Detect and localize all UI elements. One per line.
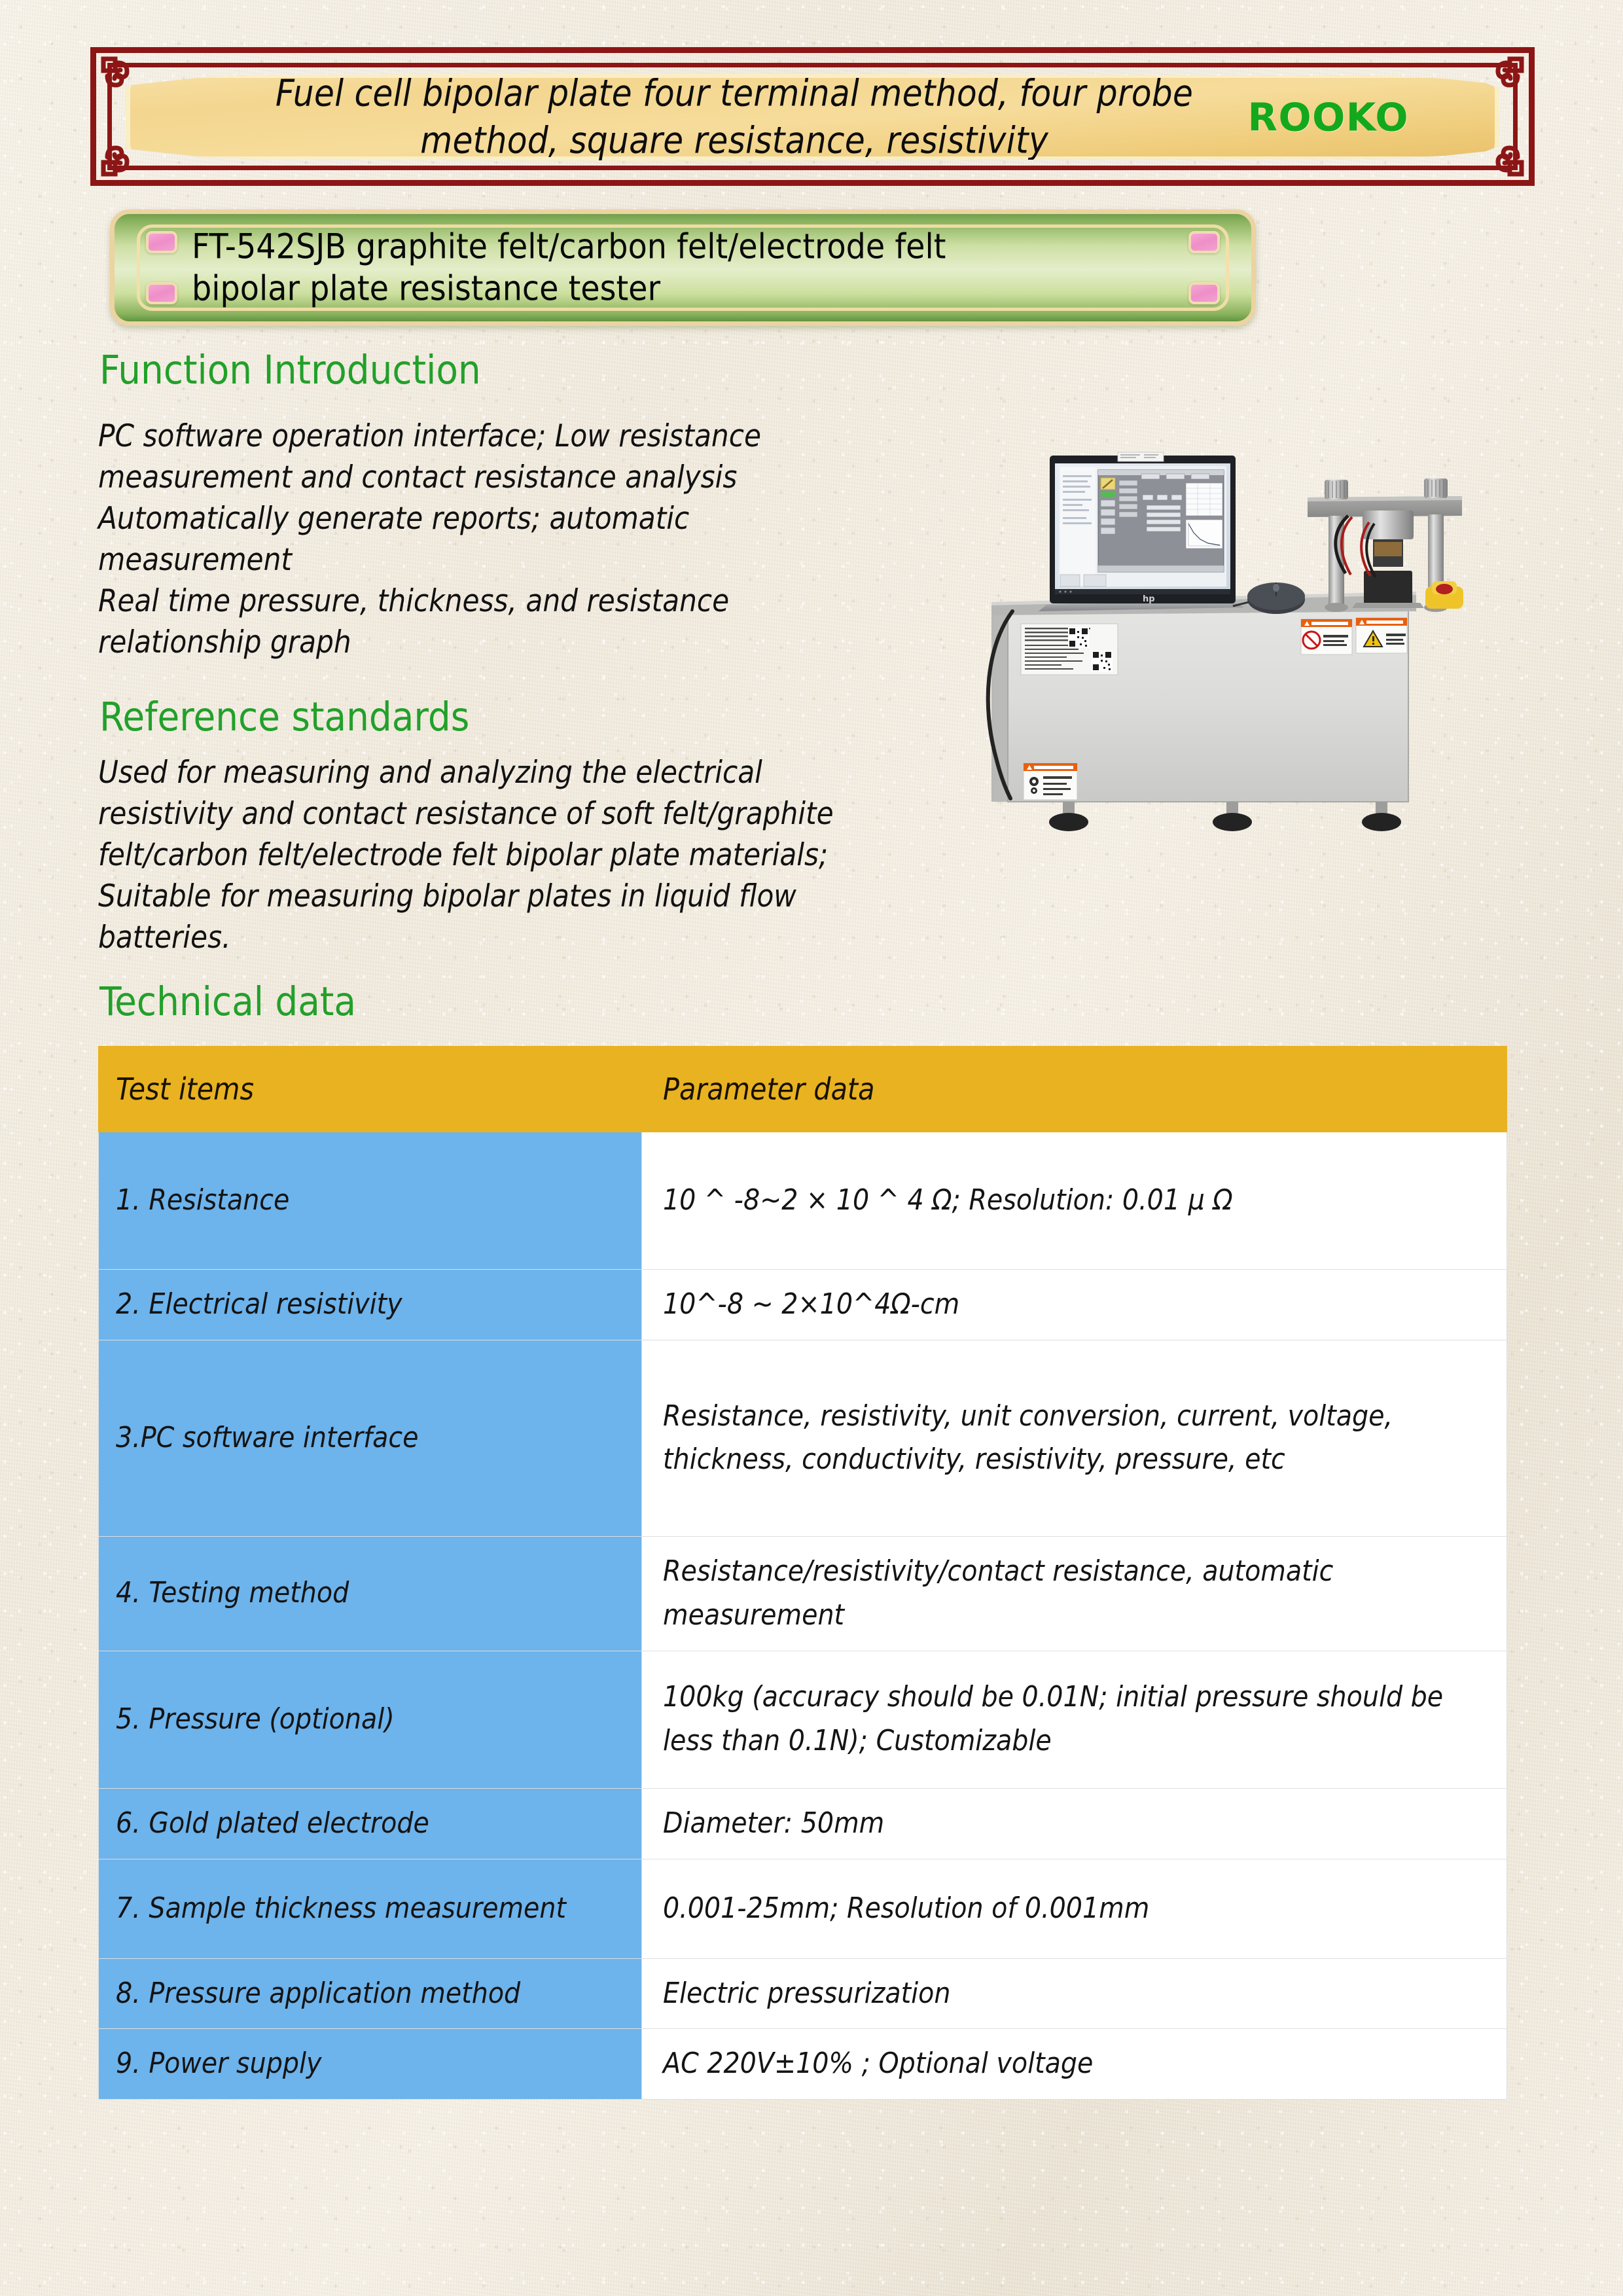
banner-title-line1: Fuel cell bipolar plate four terminal me… <box>178 70 1291 117</box>
table-cell-value: 10^-8 ~ 2×10^4Ω-cm <box>642 1270 1507 1340</box>
table-row: 5. Pressure (optional) 100kg (accuracy s… <box>99 1651 1507 1788</box>
table-header-row: Test items Parameter data <box>99 1047 1507 1132</box>
table-row: 3.PC software interface Resistance, resi… <box>99 1340 1507 1536</box>
table-row: 2. Electrical resistivity 10^-8 ~ 2×10^4… <box>99 1270 1507 1340</box>
reference-standards-heading: Reference standards <box>99 694 469 740</box>
table-row: 1. Resistance 10 ^ -8~2 × 10 ^ 4 Ω; Reso… <box>99 1132 1507 1270</box>
table-row: 4. Testing method Resistance/resistivity… <box>99 1536 1507 1651</box>
technical-data-table: Test items Parameter data 1. Resistance … <box>98 1046 1507 2100</box>
function-introduction-body: PC software operation interface; Low res… <box>98 416 883 664</box>
header-banner: Fuel cell bipolar plate four terminal me… <box>90 47 1535 186</box>
table-cell-item: 1. Resistance <box>99 1132 642 1270</box>
technical-data-heading: Technical data <box>99 978 356 1025</box>
table-cell-item: 2. Electrical resistivity <box>99 1270 642 1340</box>
table-row: 8. Pressure application method Electric … <box>99 1958 1507 2029</box>
table-cell-value: Resistance/resistivity/contact resistanc… <box>642 1536 1507 1651</box>
measurement-software-window <box>1059 466 1226 586</box>
column-header-test-items: Test items <box>99 1047 642 1132</box>
table-cell-value: Diameter: 50mm <box>642 1788 1507 1859</box>
product-title-plaque: FT-542SJB graphite felt/carbon felt/elec… <box>110 209 1256 326</box>
table-cell-value: 100kg (accuracy should be 0.01N; initial… <box>642 1651 1507 1788</box>
product-photo: hp <box>950 411 1474 869</box>
datasheet-page: Fuel cell bipolar plate four terminal me… <box>0 0 1623 2296</box>
product-title-line2: bipolar plate resistance tester <box>192 268 1179 310</box>
svg-text:hp: hp <box>1143 594 1155 604</box>
table-cell-item: 7. Sample thickness measurement <box>99 1859 642 1958</box>
table-cell-value: Resistance, resistivity, unit conversion… <box>642 1340 1507 1536</box>
table-cell-value: 10 ^ -8~2 × 10 ^ 4 Ω; Resolution: 0.01 μ… <box>642 1132 1507 1270</box>
table-cell-item: 4. Testing method <box>99 1536 642 1651</box>
function-introduction-heading: Function Introduction <box>99 347 481 393</box>
table-row: 7. Sample thickness measurement 0.001-25… <box>99 1859 1507 1958</box>
fixture-knob <box>1325 480 1348 499</box>
warning-label <box>1024 763 1077 800</box>
laptop: hp <box>1039 452 1244 611</box>
table-cell-item: 8. Pressure application method <box>99 1958 642 2029</box>
fixture-knob <box>1424 478 1448 498</box>
leveling-foot <box>1362 802 1401 831</box>
table-cell-value: AC 220V±10% ; Optional voltage <box>642 2029 1507 2100</box>
table-cell-value: 0.001-25mm; Resolution of 0.001mm <box>642 1859 1507 1958</box>
table-cell-item: 6. Gold plated electrode <box>99 1788 642 1859</box>
warning-label <box>1356 618 1407 653</box>
brand-logo: ROOKO <box>1248 95 1409 140</box>
banner-scroll-plate: Fuel cell bipolar plate four terminal me… <box>126 73 1499 161</box>
warning-label <box>1301 619 1352 655</box>
table-cell-item: 3.PC software interface <box>99 1340 642 1536</box>
banner-title-line2: method, square resistance, resistivity <box>178 117 1291 164</box>
plaque-corner-accent-icon <box>1188 282 1220 304</box>
leveling-foot <box>1213 802 1252 831</box>
banner-title: Fuel cell bipolar plate four terminal me… <box>178 70 1291 164</box>
reference-standards-body: Used for measuring and analyzing the ele… <box>98 753 883 959</box>
plaque-corner-accent-icon <box>146 231 177 253</box>
table-row: 6. Gold plated electrode Diameter: 50mm <box>99 1788 1507 1859</box>
qr-code-icon <box>1068 627 1089 648</box>
plaque-corner-accent-icon <box>146 282 177 304</box>
table-cell-value: Electric pressurization <box>642 1958 1507 2029</box>
table-row: 9. Power supply AC 220V±10% ; Optional v… <box>99 2029 1507 2100</box>
spec-label <box>1021 624 1118 675</box>
product-title-line1: FT-542SJB graphite felt/carbon felt/elec… <box>192 226 1179 268</box>
qr-code-icon <box>1092 651 1113 672</box>
table-cell-item: 9. Power supply <box>99 2029 642 2100</box>
table-cell-item: 5. Pressure (optional) <box>99 1651 642 1788</box>
plaque-corner-accent-icon <box>1188 231 1220 253</box>
column-header-parameter-data: Parameter data <box>642 1047 1507 1132</box>
leveling-foot <box>1049 802 1088 831</box>
page-title: FT-542SJB graphite felt/carbon felt/elec… <box>192 226 1179 309</box>
